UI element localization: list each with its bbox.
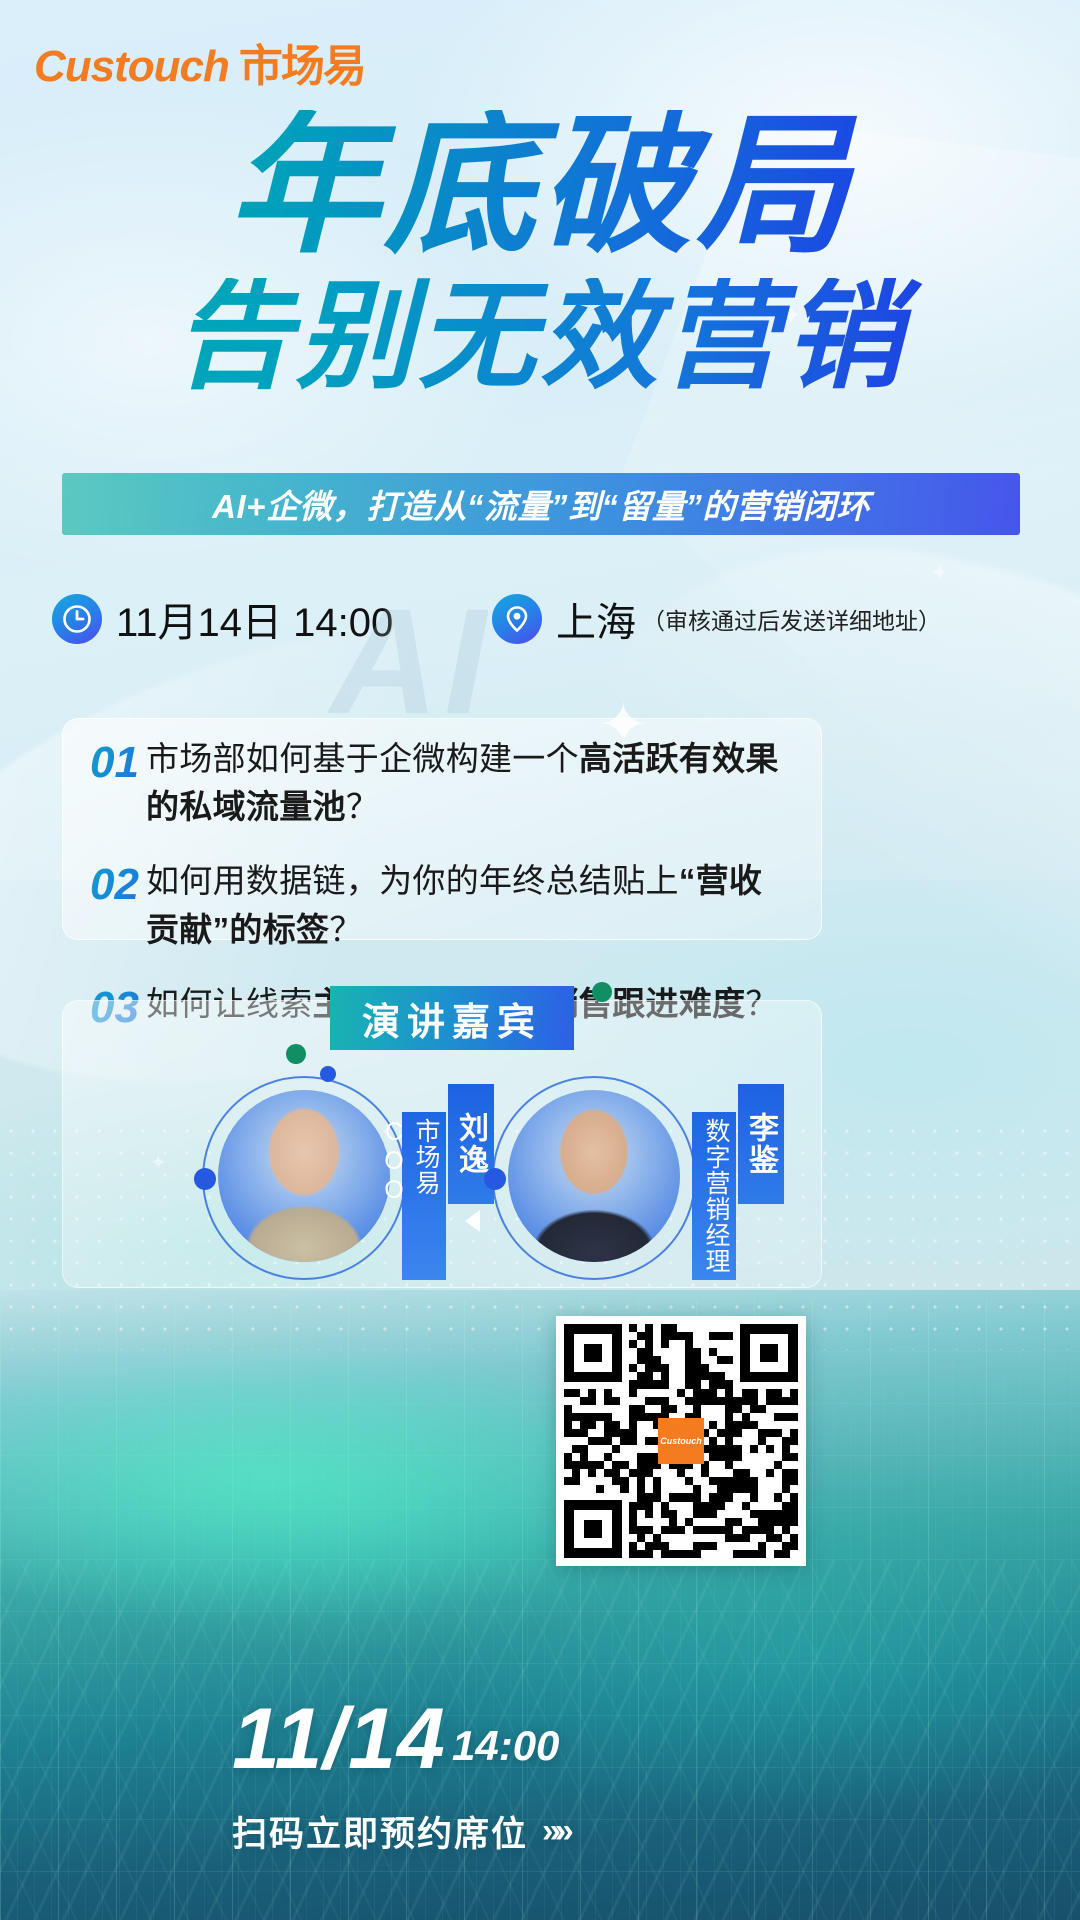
qr-center-logo: Custouch (658, 1418, 704, 1464)
subtitle-text: AI+企微，打造从“流量”到“留量”的营销闭环 (212, 480, 870, 528)
speaker-card: 刘逸 市场易COO (200, 1090, 530, 1280)
avatar (508, 1090, 680, 1262)
headline-block: 年底破局 告别无效营销 (0, 110, 1080, 396)
headline-line-1: 年底破局 (0, 110, 1080, 262)
speakers-badge-label: 演讲嘉宾 (362, 991, 542, 1046)
event-place-note: （审核通过后发送详细地址） (642, 602, 941, 636)
speaker-role: 数字营销经理 (692, 1112, 736, 1280)
location-pin-icon (492, 594, 542, 644)
cta-scan-line: 扫码立即预约席位 »» (232, 1806, 568, 1857)
speaker-name: 李鉴 (738, 1084, 784, 1204)
decorative-dot (286, 1044, 306, 1064)
agenda-item-text: 市场部如何基于企微构建一个高活跃有效果的私域流量池？ (146, 735, 786, 831)
decorative-dot (592, 982, 612, 1002)
chevron-right-icon: »» (542, 1812, 568, 1851)
avatar (218, 1090, 390, 1262)
brand-logo: Custouch市场易 (34, 30, 365, 94)
qr-finder-icon (740, 1324, 798, 1382)
agenda-item-number: 02 (62, 857, 146, 912)
agenda-item-text: 如何用数据链，为你的年终总结贴上“营收贡献”的标签？ (146, 857, 786, 953)
headline-line-2: 告别无效营销 (0, 278, 1080, 396)
agenda-item: 02 如何用数据链，为你的年终总结贴上“营收贡献”的标签？ (62, 857, 852, 953)
brand-logo-latin: Custouch (34, 42, 229, 91)
speaker-role: 市场易COO (402, 1112, 446, 1280)
event-place-text: 上海 (556, 590, 636, 648)
subtitle-banner: AI+企微，打造从“流量”到“留量”的营销闭环 (62, 473, 1020, 535)
event-place-item: 上海 （审核通过后发送详细地址） (492, 590, 941, 648)
ring-dot (484, 1168, 506, 1190)
brand-logo-cn: 市场易 (239, 42, 365, 91)
speakers-badge: 演讲嘉宾 (330, 986, 574, 1050)
qr-finder-icon (564, 1324, 622, 1382)
triangle-marker-icon (465, 1210, 480, 1232)
cta-scan-text: 扫码立即预约席位 (232, 1806, 528, 1857)
ring-dot (320, 1066, 336, 1082)
agenda-item: 01 市场部如何基于企微构建一个高活跃有效果的私域流量池？ (62, 735, 852, 831)
cta-big-time: 14:00 (452, 1722, 559, 1770)
event-info-row: 11月14日 14:00 上海 （审核通过后发送详细地址） (52, 590, 1042, 660)
qr-code-image: Custouch (564, 1324, 798, 1558)
speaker-card: 李鉴 数字营销经理 (490, 1090, 820, 1280)
cta-big-date: 11/14 (232, 1690, 446, 1789)
agenda-item-number: 01 (62, 735, 146, 790)
ring-dot (194, 1168, 216, 1190)
qr-finder-icon (564, 1500, 622, 1558)
qr-code[interactable]: Custouch (556, 1316, 806, 1566)
clock-icon (52, 594, 102, 644)
poster-root: ✦ ✦ ✦ ✦ Custouch市场易 年底破局 告别无效营销 AI+企微，打造… (0, 0, 1080, 1920)
